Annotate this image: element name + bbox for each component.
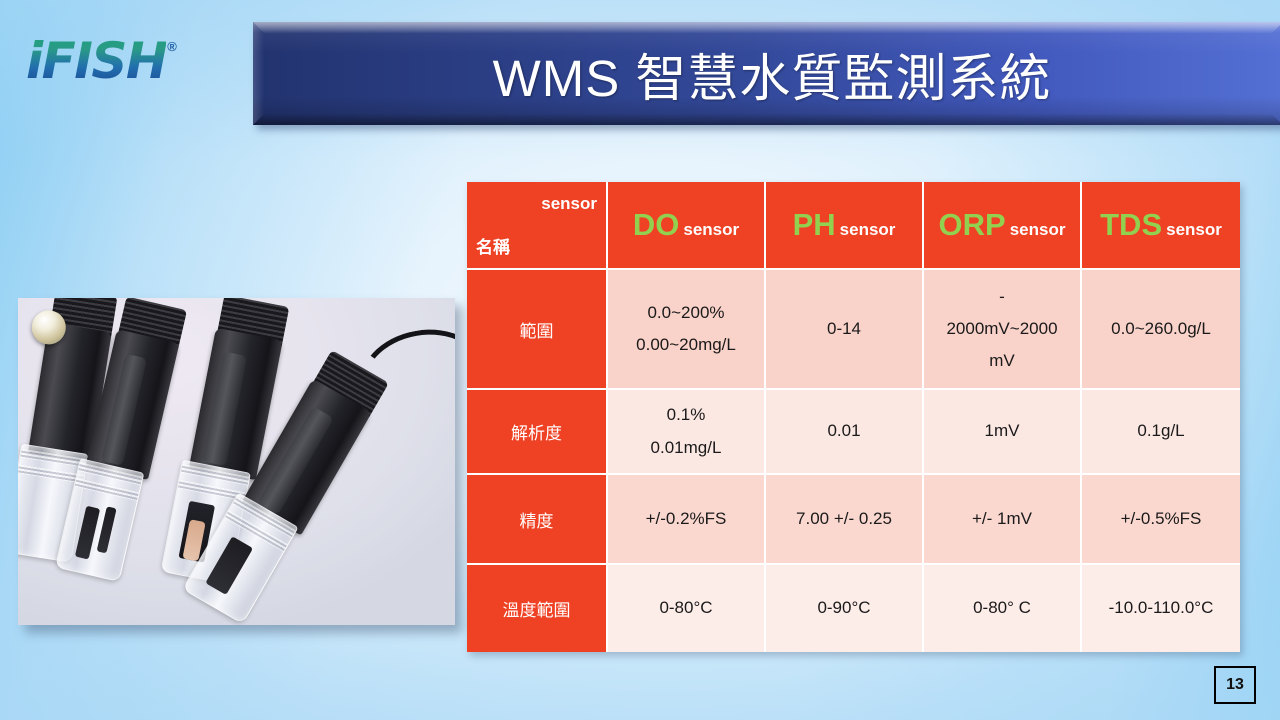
- brand-logo: iFISH ®: [26, 36, 177, 86]
- cell-line: mV: [924, 345, 1080, 377]
- column-header-do: DOsensor: [608, 182, 766, 270]
- cell-line: +/-0.2%FS: [608, 503, 764, 535]
- probe-tip: [97, 506, 117, 553]
- column-header-orp: ORPsensor: [924, 182, 1082, 270]
- registered-trademark-icon: ®: [167, 40, 177, 53]
- cell-line: 0.1g/L: [1082, 415, 1240, 447]
- cell-accuracy-do: +/-0.2%FS: [608, 475, 766, 565]
- row-label-resolution: 解析度: [467, 390, 608, 475]
- column-header-ph-name: PH: [793, 207, 836, 242]
- page-number-badge: 13: [1214, 666, 1256, 704]
- cell-accuracy-tds: +/-0.5%FS: [1082, 475, 1240, 565]
- column-header-do-name: DO: [633, 207, 680, 242]
- probe-tip: [205, 536, 253, 595]
- cell-resolution-tds: 0.1g/L: [1082, 390, 1240, 475]
- cell-temperature-orp: 0-80° C: [924, 565, 1082, 652]
- column-header-tds: TDSsensor: [1082, 182, 1240, 270]
- cell-line: -10.0-110.0°C: [1082, 592, 1240, 624]
- corner-header-name-label: 名稱: [476, 233, 510, 258]
- column-header-ph: PHsensor: [766, 182, 924, 270]
- cell-accuracy-ph: 7.00 +/- 0.25: [766, 475, 924, 565]
- cell-accuracy-orp: +/- 1mV: [924, 475, 1082, 565]
- cell-line: 0-80° C: [924, 592, 1080, 624]
- cell-line: 0.01mg/L: [608, 432, 764, 464]
- cell-line: 0-90°C: [766, 592, 922, 624]
- cell-line: 0.0~260.0g/L: [1082, 313, 1240, 345]
- corner-header-sensor-label: sensor: [541, 194, 597, 214]
- cell-line: 0.00~20mg/L: [608, 329, 764, 361]
- cell-range-do: 0.0~200% 0.00~20mg/L: [608, 270, 766, 390]
- cell-range-tds: 0.0~260.0g/L: [1082, 270, 1240, 390]
- table-row: 解析度 0.1% 0.01mg/L 0.01 1mV 0.1g/L: [467, 390, 1240, 475]
- table-row: 範圍 0.0~200% 0.00~20mg/L 0-14 - 2000mV~20…: [467, 270, 1240, 390]
- slide-canvas: iFISH ® WMS 智慧水質監測系統: [0, 0, 1280, 720]
- cell-line: +/-0.5%FS: [1082, 503, 1240, 535]
- probe-tip: [75, 506, 100, 560]
- cell-resolution-ph: 0.01: [766, 390, 924, 475]
- table-row: 溫度範圍 0-80°C 0-90°C 0-80° C -10.0-110.0°C: [467, 565, 1240, 652]
- cell-range-ph: 0-14: [766, 270, 924, 390]
- cell-line: 7.00 +/- 0.25: [766, 503, 922, 535]
- brand-logo-text: iFISH: [26, 36, 166, 86]
- cell-temperature-ph: 0-90°C: [766, 565, 924, 652]
- cell-line: 0-80°C: [608, 592, 764, 624]
- cell-line: 1mV: [924, 415, 1080, 447]
- cell-resolution-orp: 1mV: [924, 390, 1082, 475]
- cell-line: 0-14: [766, 313, 922, 345]
- cell-line: -: [924, 281, 1080, 313]
- cell-line: 0.0~200%: [608, 297, 764, 329]
- column-header-ph-suffix: sensor: [840, 220, 896, 239]
- column-header-do-suffix: sensor: [683, 220, 739, 239]
- cell-line: 2000mV~2000: [924, 313, 1080, 345]
- cell-line: 0.01: [766, 415, 922, 447]
- column-header-tds-name: TDS: [1100, 207, 1162, 242]
- cell-temperature-do: 0-80°C: [608, 565, 766, 652]
- cell-line: 0.1%: [608, 399, 764, 431]
- row-label-range: 範圍: [467, 270, 608, 390]
- sensor-probes-photo: [18, 298, 455, 625]
- cell-resolution-do: 0.1% 0.01mg/L: [608, 390, 766, 475]
- column-header-tds-suffix: sensor: [1166, 220, 1222, 239]
- sensor-spec-table: sensor 名稱 DOsensor PHsensor ORPsensor TD…: [467, 182, 1240, 652]
- banner-bevel-bottom: [253, 114, 1280, 125]
- spec-table-corner-header: sensor 名稱: [467, 182, 608, 270]
- page-title: WMS 智慧水質監測系統: [253, 37, 1280, 111]
- table-row: 精度 +/-0.2%FS 7.00 +/- 0.25 +/- 1mV +/-0.…: [467, 475, 1240, 565]
- cell-temperature-tds: -10.0-110.0°C: [1082, 565, 1240, 652]
- title-banner: WMS 智慧水質監測系統: [253, 22, 1280, 125]
- column-header-orp-suffix: sensor: [1010, 220, 1066, 239]
- row-label-temperature-range: 溫度範圍: [467, 565, 608, 652]
- spec-table-header-row: sensor 名稱 DOsensor PHsensor ORPsensor TD…: [467, 182, 1240, 270]
- spec-table-body: 範圍 0.0~200% 0.00~20mg/L 0-14 - 2000mV~20…: [467, 270, 1240, 652]
- row-label-accuracy: 精度: [467, 475, 608, 565]
- banner-bevel-top: [253, 22, 1280, 33]
- cell-line: +/- 1mV: [924, 503, 1080, 535]
- spec-table-head: sensor 名稱 DOsensor PHsensor ORPsensor TD…: [467, 182, 1240, 270]
- column-header-orp-name: ORP: [939, 207, 1006, 242]
- cell-range-orp: - 2000mV~2000 mV: [924, 270, 1082, 390]
